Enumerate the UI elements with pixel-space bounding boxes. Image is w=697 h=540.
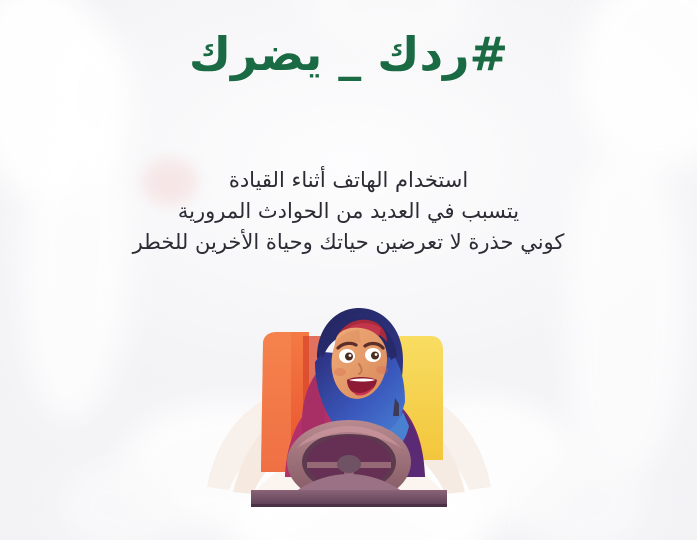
message-line-1: استخدام الهاتف أثناء القيادة [40, 165, 657, 196]
poster-message: استخدام الهاتف أثناء القيادة يتسبب في ال… [40, 165, 657, 258]
illustration-woman-driving-using-phone [199, 292, 499, 507]
poster-title-hashtag: #ردك _ يضرك [0, 26, 697, 84]
message-line-3: كوني حذرة لا تعرضين حياتك وحياة الأخرين … [40, 227, 657, 258]
poster-canvas: #ردك _ يضرك استخدام الهاتف أثناء القيادة… [0, 0, 697, 540]
blush [334, 368, 346, 376]
message-line-2: يتسبب في العديد من الحوادث المرورية [40, 196, 657, 227]
eye-right [365, 348, 381, 362]
illustration-svg [199, 292, 499, 507]
wheel-hub [337, 455, 361, 473]
blush [376, 366, 388, 374]
eye-left [339, 349, 355, 363]
